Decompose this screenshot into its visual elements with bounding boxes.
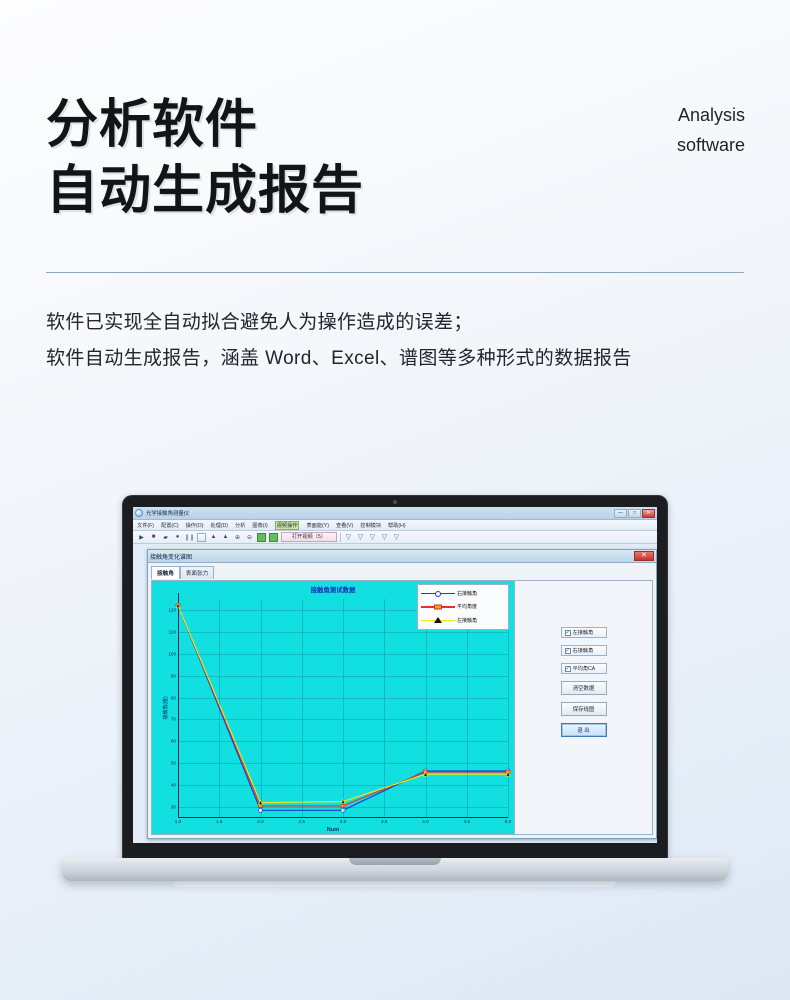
x-axis-tick: 1.0 xyxy=(175,818,181,824)
y-axis-tick: 60 xyxy=(171,739,178,744)
y-axis-tick: 70 xyxy=(171,717,178,722)
up-triangle-small-icon[interactable]: ▲ xyxy=(221,533,230,542)
plot-area: 接触角测试数据 接触角(度) Num 1.01.52.02.53.03.54.0… xyxy=(152,581,515,834)
stop-icon[interactable]: ■ xyxy=(149,533,158,542)
y-axis-tick: 120 xyxy=(168,607,178,612)
y-axis-tick: 90 xyxy=(171,673,178,678)
chart-window-title-bar: 接触角变化谱图 ✕ xyxy=(148,550,656,563)
y-axis-tick: 110 xyxy=(169,629,178,634)
grid-line-vertical xyxy=(508,599,509,818)
open-video-button[interactable]: 打开视频（5） xyxy=(281,532,337,542)
grid-icon[interactable] xyxy=(197,533,206,542)
laptop-screen: 光学接触角测量仪 — □ ✕ 文件(F) 配置(C) 操作(O) 处理(D) 分… xyxy=(133,507,657,843)
webcam-icon xyxy=(393,500,397,504)
y-axis-tick: 50 xyxy=(171,761,178,766)
legend-label-left: 左接触角 xyxy=(457,617,477,624)
menu-item-surface-energy[interactable]: 表面能(Y) xyxy=(306,522,328,529)
square-marker-icon xyxy=(434,604,442,609)
checkmark-icon[interactable]: ✓ xyxy=(565,666,571,672)
window-controls: — □ ✕ xyxy=(614,509,655,518)
legend-entry-average-angle: 平均角度 xyxy=(421,603,505,610)
description-text: 软件已实现全自动拟合避免人为操作造成的误差； 软件自动生成报告，涵盖 Word、… xyxy=(46,305,632,377)
chart-legend: 右接触角 平均角度 xyxy=(417,584,509,630)
menu-item-video[interactable]: 视频操作 xyxy=(275,521,300,530)
legend-entry-right-angle: 右接触角 xyxy=(421,590,505,597)
x-axis-tick: 5.0 xyxy=(505,818,511,824)
triangle-marker-icon xyxy=(434,617,442,623)
menu-item-config[interactable]: 配置(C) xyxy=(161,522,179,529)
menu-item-file[interactable]: 文件(F) xyxy=(137,522,154,529)
legend-entry-left-angle: 左接触角 xyxy=(421,617,505,624)
app-window-title: 光学接触角测量仪 xyxy=(146,509,189,517)
tool-bar: ▶ ■ ▰ ● ❙❙ ▲ ▲ ⊕ ⊖ 打开视频（5） ▽ ▽ ▽ xyxy=(133,531,657,544)
green-a-icon[interactable] xyxy=(257,533,266,542)
grid-line-horizontal xyxy=(178,741,508,742)
tab-surface-tension[interactable]: 表面张力 xyxy=(180,566,214,579)
chart-panel: 接触角测试数据 接触角(度) Num 1.01.52.02.53.03.54.0… xyxy=(151,580,653,835)
grid-line-horizontal xyxy=(178,676,508,677)
y-axis-label: 接触角(度) xyxy=(162,696,169,719)
checkbox-left-contact-angle[interactable]: ✓ 左接触角 xyxy=(561,627,607,638)
y-axis-tick: 100 xyxy=(168,651,178,656)
checkbox-right-contact-angle[interactable]: ✓ 右接触角 xyxy=(561,645,607,656)
laptop-foot xyxy=(174,881,616,887)
grid-line-horizontal xyxy=(178,763,508,764)
horizontal-divider xyxy=(46,272,744,273)
app-logo-icon xyxy=(135,509,143,517)
clear-data-button[interactable]: 清空数据 xyxy=(561,681,607,695)
menu-item-process[interactable]: 处理(D) xyxy=(210,522,228,529)
checkbox-label-left: 左接触角 xyxy=(573,629,594,636)
y-axis-tick: 40 xyxy=(171,783,178,788)
menu-item-view[interactable]: 查看(V) xyxy=(336,522,353,529)
grid-line-horizontal xyxy=(178,654,508,655)
chart-window: 接触角变化谱图 ✕ 接触角 表面张力 接触角测试数据 接触角(度) xyxy=(147,549,657,839)
crosshair-icon[interactable]: ⊕ xyxy=(233,533,242,542)
x-axis-tick: 3.5 xyxy=(381,818,387,824)
x-axis-tick: 2.0 xyxy=(257,818,263,824)
save-chart-button[interactable]: 保存线图 xyxy=(561,702,607,716)
menu-bar: 文件(F) 配置(C) 操作(O) 处理(D) 分析 图像(I) 视频操作 表面… xyxy=(133,520,657,531)
x-axis-tick: 2.5 xyxy=(299,818,305,824)
laptop-notch xyxy=(349,858,441,865)
up-triangle-icon[interactable]: ▲ xyxy=(209,533,218,542)
tab-contact-angle[interactable]: 接触角 xyxy=(151,566,180,579)
maximize-button[interactable]: □ xyxy=(628,509,641,518)
grid-line-horizontal xyxy=(178,719,508,720)
laptop-lid: 光学接触角测量仪 — □ ✕ 文件(F) 配置(C) 操作(O) 处理(D) 分… xyxy=(122,495,668,860)
laptop-base xyxy=(62,858,728,881)
minimize-button[interactable]: — xyxy=(614,509,627,518)
y-axis-tick: 80 xyxy=(171,695,178,700)
app-title-bar: 光学接触角测量仪 — □ ✕ xyxy=(133,507,657,520)
page-subtitle-english: Analysis software xyxy=(677,100,745,160)
checkmark-icon[interactable]: ✓ xyxy=(565,630,571,636)
menu-item-help[interactable]: 帮助(H) xyxy=(388,522,406,529)
circle-marker-icon xyxy=(435,591,441,597)
filter-4-icon[interactable]: ▽ xyxy=(380,533,389,542)
menu-item-image[interactable]: 图像(I) xyxy=(252,522,267,529)
laptop-mockup: 光学接触角测量仪 — □ ✕ 文件(F) 配置(C) 操作(O) 处理(D) 分… xyxy=(62,495,728,915)
camera-icon[interactable]: ▰ xyxy=(161,533,170,542)
menu-item-control-module[interactable]: 控制模块 xyxy=(360,522,381,529)
filter-5-icon[interactable]: ▽ xyxy=(392,533,401,542)
chart-close-button[interactable]: ✕ xyxy=(634,551,654,561)
x-axis-label: Num xyxy=(152,827,514,833)
play-icon[interactable]: ▶ xyxy=(137,533,146,542)
grid-line-horizontal xyxy=(178,698,508,699)
page-title: 分析软件 自动生成报告 xyxy=(46,92,364,224)
minus-circle-icon[interactable]: ⊖ xyxy=(245,533,254,542)
chart-window-body: 接触角 表面张力 接触角测试数据 接触角(度) Num xyxy=(148,563,656,838)
grid-line-horizontal xyxy=(178,785,508,786)
chart-window-title: 接触角变化谱图 xyxy=(150,552,192,561)
exit-button[interactable]: 退 出 xyxy=(561,723,607,737)
legend-line-average xyxy=(421,606,455,607)
menu-item-operation[interactable]: 操作(O) xyxy=(186,522,204,529)
record-icon[interactable]: ● xyxy=(173,533,182,542)
close-button[interactable]: ✕ xyxy=(642,509,655,518)
green-b-icon[interactable] xyxy=(269,533,278,542)
legend-label-average: 平均角度 xyxy=(457,603,477,610)
application-window: 光学接触角测量仪 — □ ✕ 文件(F) 配置(C) 操作(O) 处理(D) 分… xyxy=(133,507,657,843)
grid-line-horizontal xyxy=(178,807,508,808)
x-axis-tick: 4.5 xyxy=(464,818,470,824)
filter-2-icon[interactable]: ▽ xyxy=(356,533,365,542)
axis-area: 1.01.52.02.53.03.54.04.55.03040506070809… xyxy=(178,599,508,818)
tab-strip: 接触角 表面张力 xyxy=(151,566,653,579)
checkbox-label-right: 右接触角 xyxy=(573,647,594,654)
checkbox-label-average: 平均角CA xyxy=(573,665,596,672)
legend-line-right xyxy=(421,593,455,594)
y-axis-tick: 30 xyxy=(171,805,178,810)
filter-3-icon[interactable]: ▽ xyxy=(368,533,377,542)
filter-1-icon[interactable]: ▽ xyxy=(344,533,353,542)
legend-label-right: 右接触角 xyxy=(457,590,477,597)
checkbox-average-ca[interactable]: ✓ 平均角CA xyxy=(561,663,607,674)
checkmark-icon[interactable]: ✓ xyxy=(565,648,571,654)
menu-item-analysis[interactable]: 分析 xyxy=(235,522,245,529)
grid-line-horizontal xyxy=(178,632,508,633)
x-axis-tick: 4.0 xyxy=(422,818,428,824)
x-axis-tick: 1.5 xyxy=(216,818,222,824)
chart-controls-panel: ✓ 左接触角 ✓ 右接触角 ✓ 平均角CA xyxy=(515,581,652,834)
legend-line-left xyxy=(421,620,455,621)
toolbar-separator xyxy=(340,533,341,542)
pause-icon[interactable]: ❙❙ xyxy=(185,533,194,542)
x-axis-tick: 3.0 xyxy=(340,818,346,824)
